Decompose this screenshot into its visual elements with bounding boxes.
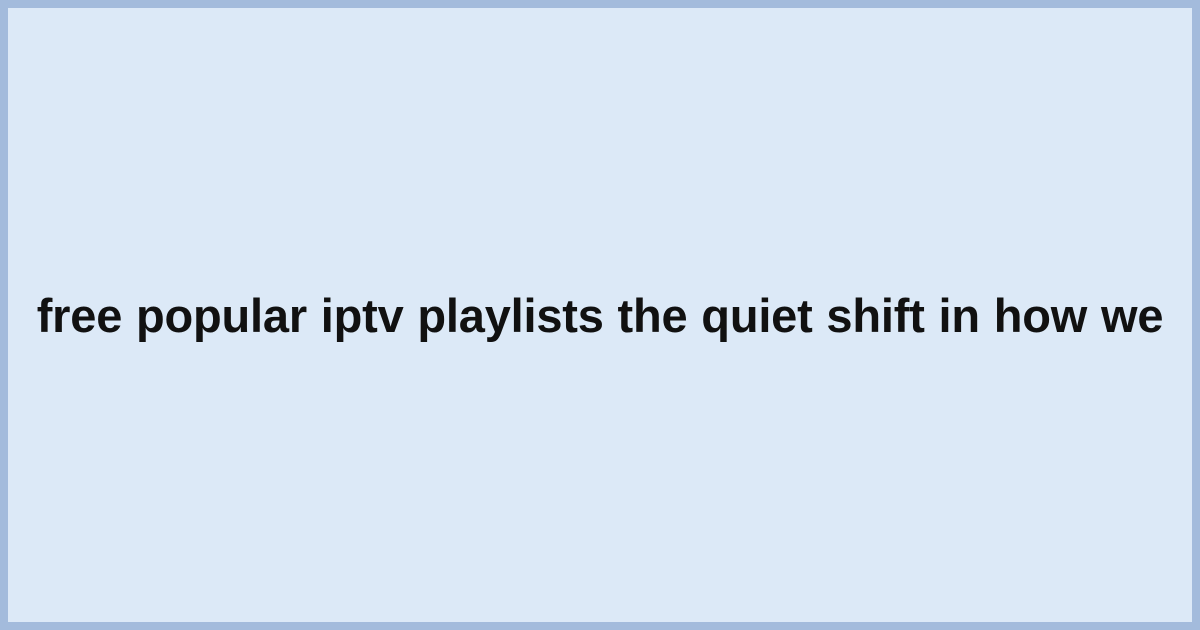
page-title-text: free popular iptv playlists the quiet sh… — [24, 287, 1176, 345]
og-card: free popular iptv playlists the quiet sh… — [0, 0, 1200, 630]
og-canvas: free popular iptv playlists the quiet sh… — [8, 8, 1192, 622]
page-title: free popular iptv playlists the quiet sh… — [24, 287, 1176, 345]
